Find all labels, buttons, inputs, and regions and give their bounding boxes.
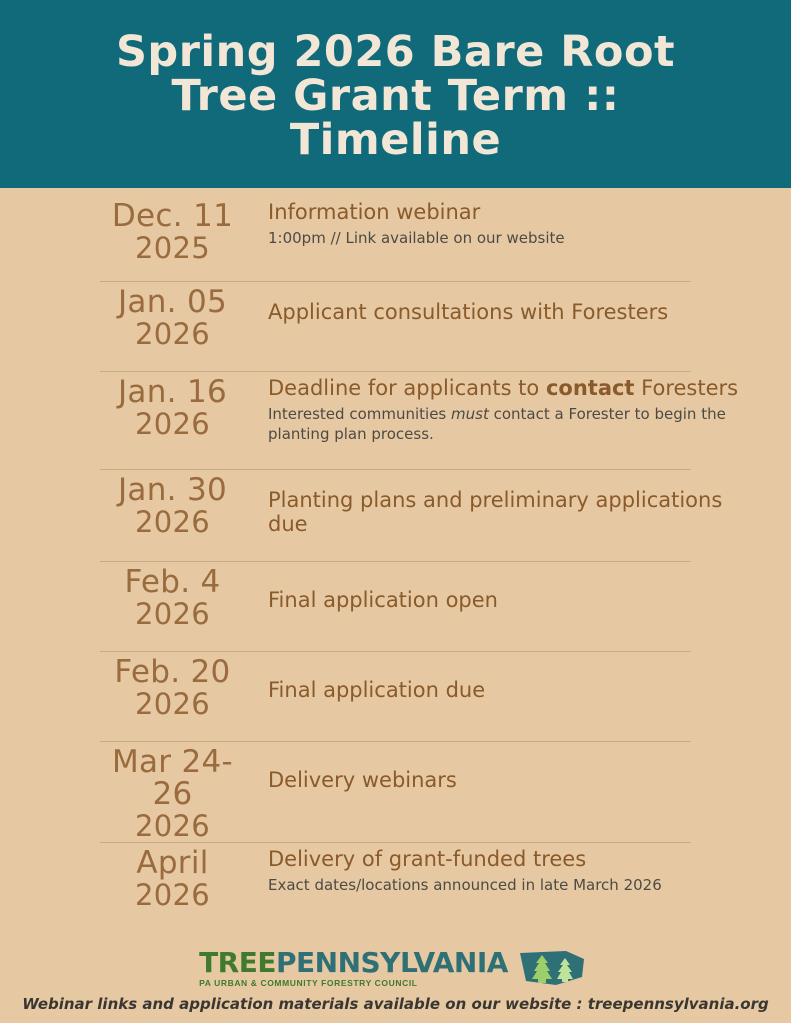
timeline-date-main: April xyxy=(95,847,250,879)
poster-header: Spring 2026 Bare Root Tree Grant Term ::… xyxy=(0,0,791,188)
timeline-date-main: Mar 24-26 xyxy=(95,746,250,810)
poster-footer: TREEPENNSYLVANIA PA URBAN & COMMUNITY FO… xyxy=(0,947,791,1023)
title-emphasis: contact xyxy=(546,376,635,400)
timeline-date-main: Feb. 4 xyxy=(95,566,250,598)
timeline-event-title: Applicant consultations with Foresters xyxy=(268,300,751,324)
title-post: Foresters xyxy=(634,376,738,400)
organization-logo: TREEPENNSYLVANIA PA URBAN & COMMUNITY FO… xyxy=(0,947,791,989)
subtitle-emphasis: must xyxy=(451,405,489,423)
timeline-date: Jan. 05 2026 xyxy=(95,282,250,351)
timeline-text: Applicant consultations with Foresters xyxy=(250,282,751,324)
footer-note: Webinar links and application materials … xyxy=(0,995,791,1023)
timeline-date-year: 2026 xyxy=(95,408,250,440)
timeline-event-title: Delivery webinars xyxy=(268,768,751,792)
logo-name: TREEPENNSYLVANIA xyxy=(199,949,508,977)
header-title-line-1: Spring 2026 Bare Root xyxy=(116,31,675,75)
timeline-text: Final application open xyxy=(250,562,751,612)
timeline-text: Delivery of grant-funded trees Exact dat… xyxy=(250,843,751,895)
timeline-date-main: Jan. 30 xyxy=(95,474,250,506)
timeline-event-title: Planting plans and preliminary applicati… xyxy=(268,488,751,536)
timeline-date-year: 2026 xyxy=(95,879,250,911)
timeline-event-subtitle: Interested communities must contact a Fo… xyxy=(268,404,751,445)
timeline-date: April 2026 xyxy=(95,843,250,912)
timeline-text: Information webinar 1:00pm // Link avail… xyxy=(250,196,751,248)
timeline-event-title: Final application due xyxy=(268,678,751,702)
timeline-text: Delivery webinars xyxy=(250,742,751,792)
timeline-date: Mar 24-26 2026 xyxy=(95,742,250,843)
title-pre: Deadline for applicants to xyxy=(268,376,546,400)
header-title-line-3: Timeline xyxy=(290,119,501,163)
timeline-date: Jan. 30 2026 xyxy=(95,470,250,539)
timeline-event-title: Information webinar xyxy=(268,200,751,224)
timeline-event-subtitle: 1:00pm // Link available on our website xyxy=(268,228,751,248)
timeline-event-title: Final application open xyxy=(268,588,751,612)
timeline-event-subtitle: Exact dates/locations announced in late … xyxy=(268,875,751,895)
timeline-event-title: Deadline for applicants to contact Fores… xyxy=(268,376,751,400)
logo-tagline: PA URBAN & COMMUNITY FORESTRY COUNCIL xyxy=(199,979,508,988)
timeline-row: Feb. 4 2026 Final application open xyxy=(0,562,791,652)
timeline-row: Dec. 11 2025 Information webinar 1:00pm … xyxy=(0,196,791,282)
timeline-text: Planting plans and preliminary applicati… xyxy=(250,470,751,536)
timeline-date-year: 2026 xyxy=(95,810,250,842)
logo-word-tree: TREE xyxy=(199,946,276,979)
poster-page: Spring 2026 Bare Root Tree Grant Term ::… xyxy=(0,0,791,1023)
subtitle-pre: Interested communities xyxy=(268,405,451,423)
timeline-text: Deadline for applicants to contact Fores… xyxy=(250,372,751,445)
timeline-date-main: Jan. 16 xyxy=(95,376,250,408)
timeline-date-main: Feb. 20 xyxy=(95,656,250,688)
header-title-line-2: Tree Grant Term :: xyxy=(172,75,620,119)
timeline-event-title: Delivery of grant-funded trees xyxy=(268,847,751,871)
timeline-date-year: 2026 xyxy=(95,318,250,350)
timeline-row: Jan. 05 2026 Applicant consultations wit… xyxy=(0,282,791,372)
timeline-list: Dec. 11 2025 Information webinar 1:00pm … xyxy=(0,188,791,927)
timeline-date-main: Dec. 11 xyxy=(95,200,250,232)
logo-word-pennsylvania: PENNSYLVANIA xyxy=(276,946,508,979)
timeline-date-year: 2026 xyxy=(95,598,250,630)
timeline-date-year: 2026 xyxy=(95,506,250,538)
timeline-date-main: Jan. 05 xyxy=(95,286,250,318)
timeline-row: Mar 24-26 2026 Delivery webinars xyxy=(0,742,791,843)
timeline-date-year: 2026 xyxy=(95,688,250,720)
pennsylvania-tree-icon xyxy=(516,947,592,989)
timeline-date-year: 2025 xyxy=(95,232,250,264)
timeline-date: Dec. 11 2025 xyxy=(95,196,250,265)
timeline-date: Feb. 20 2026 xyxy=(95,652,250,721)
timeline-text: Final application due xyxy=(250,652,751,702)
timeline-row: April 2026 Delivery of grant-funded tree… xyxy=(0,843,791,927)
logo-wordmark: TREEPENNSYLVANIA PA URBAN & COMMUNITY FO… xyxy=(199,949,508,988)
timeline-row: Jan. 16 2026 Deadline for applicants to … xyxy=(0,372,791,470)
timeline-row: Jan. 30 2026 Planting plans and prelimin… xyxy=(0,470,791,562)
timeline-date: Feb. 4 2026 xyxy=(95,562,250,631)
timeline-row: Feb. 20 2026 Final application due xyxy=(0,652,791,742)
timeline-date: Jan. 16 2026 xyxy=(95,372,250,441)
